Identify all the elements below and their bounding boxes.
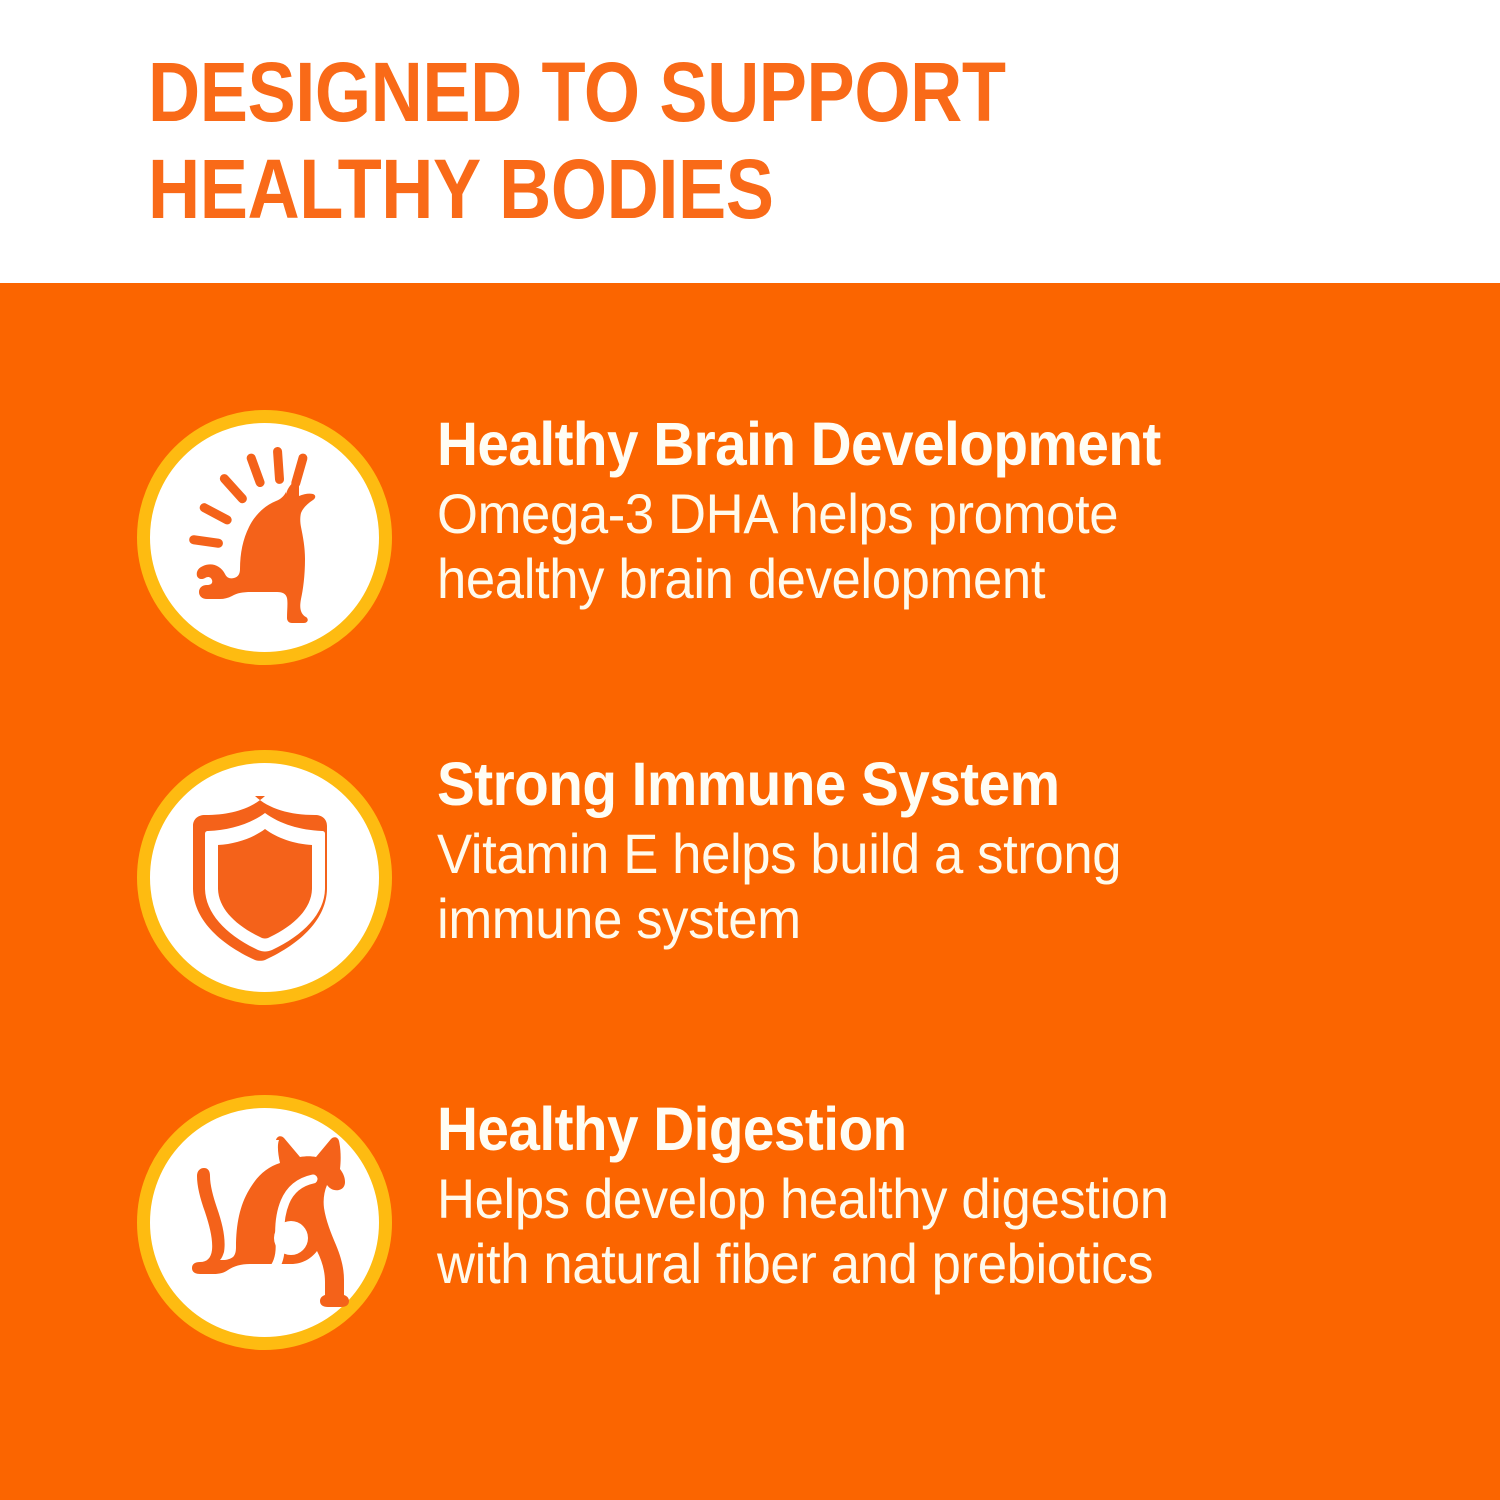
benefit-body: Vitamin E helps build a strong immune sy… (437, 821, 1386, 951)
page-title: DESIGNED TO SUPPORT HEALTHY BODIES (148, 44, 1163, 238)
cat-digestion-icon (175, 1135, 355, 1310)
cat-thinking-icon (180, 445, 350, 630)
benefit-text-immune: Strong Immune System Vitamin E helps bui… (437, 750, 1447, 951)
benefit-text-digestion: Healthy Digestion Helps develop healthy … (437, 1095, 1447, 1296)
benefit-text-brain: Healthy Brain Development Omega-3 DHA he… (437, 410, 1447, 611)
benefit-heading: Healthy Digestion (437, 1095, 1376, 1163)
benefit-heading: Healthy Brain Development (437, 410, 1376, 478)
benefit-body: Omega-3 DHA helps promote healthy brain … (437, 481, 1386, 611)
cat-digestion-icon-badge (137, 1095, 392, 1350)
benefits-panel: Healthy Brain Development Omega-3 DHA he… (0, 283, 1500, 1500)
shield-icon-badge (137, 750, 392, 1005)
infographic-poster: DESIGNED TO SUPPORT HEALTHY BODIES (0, 0, 1500, 1500)
cat-thinking-icon-badge (137, 410, 392, 665)
shield-icon (189, 794, 341, 962)
benefit-body: Helps develop healthy digestion with nat… (437, 1166, 1386, 1296)
benefit-heading: Strong Immune System (437, 750, 1376, 818)
header-band: DESIGNED TO SUPPORT HEALTHY BODIES (0, 0, 1500, 283)
